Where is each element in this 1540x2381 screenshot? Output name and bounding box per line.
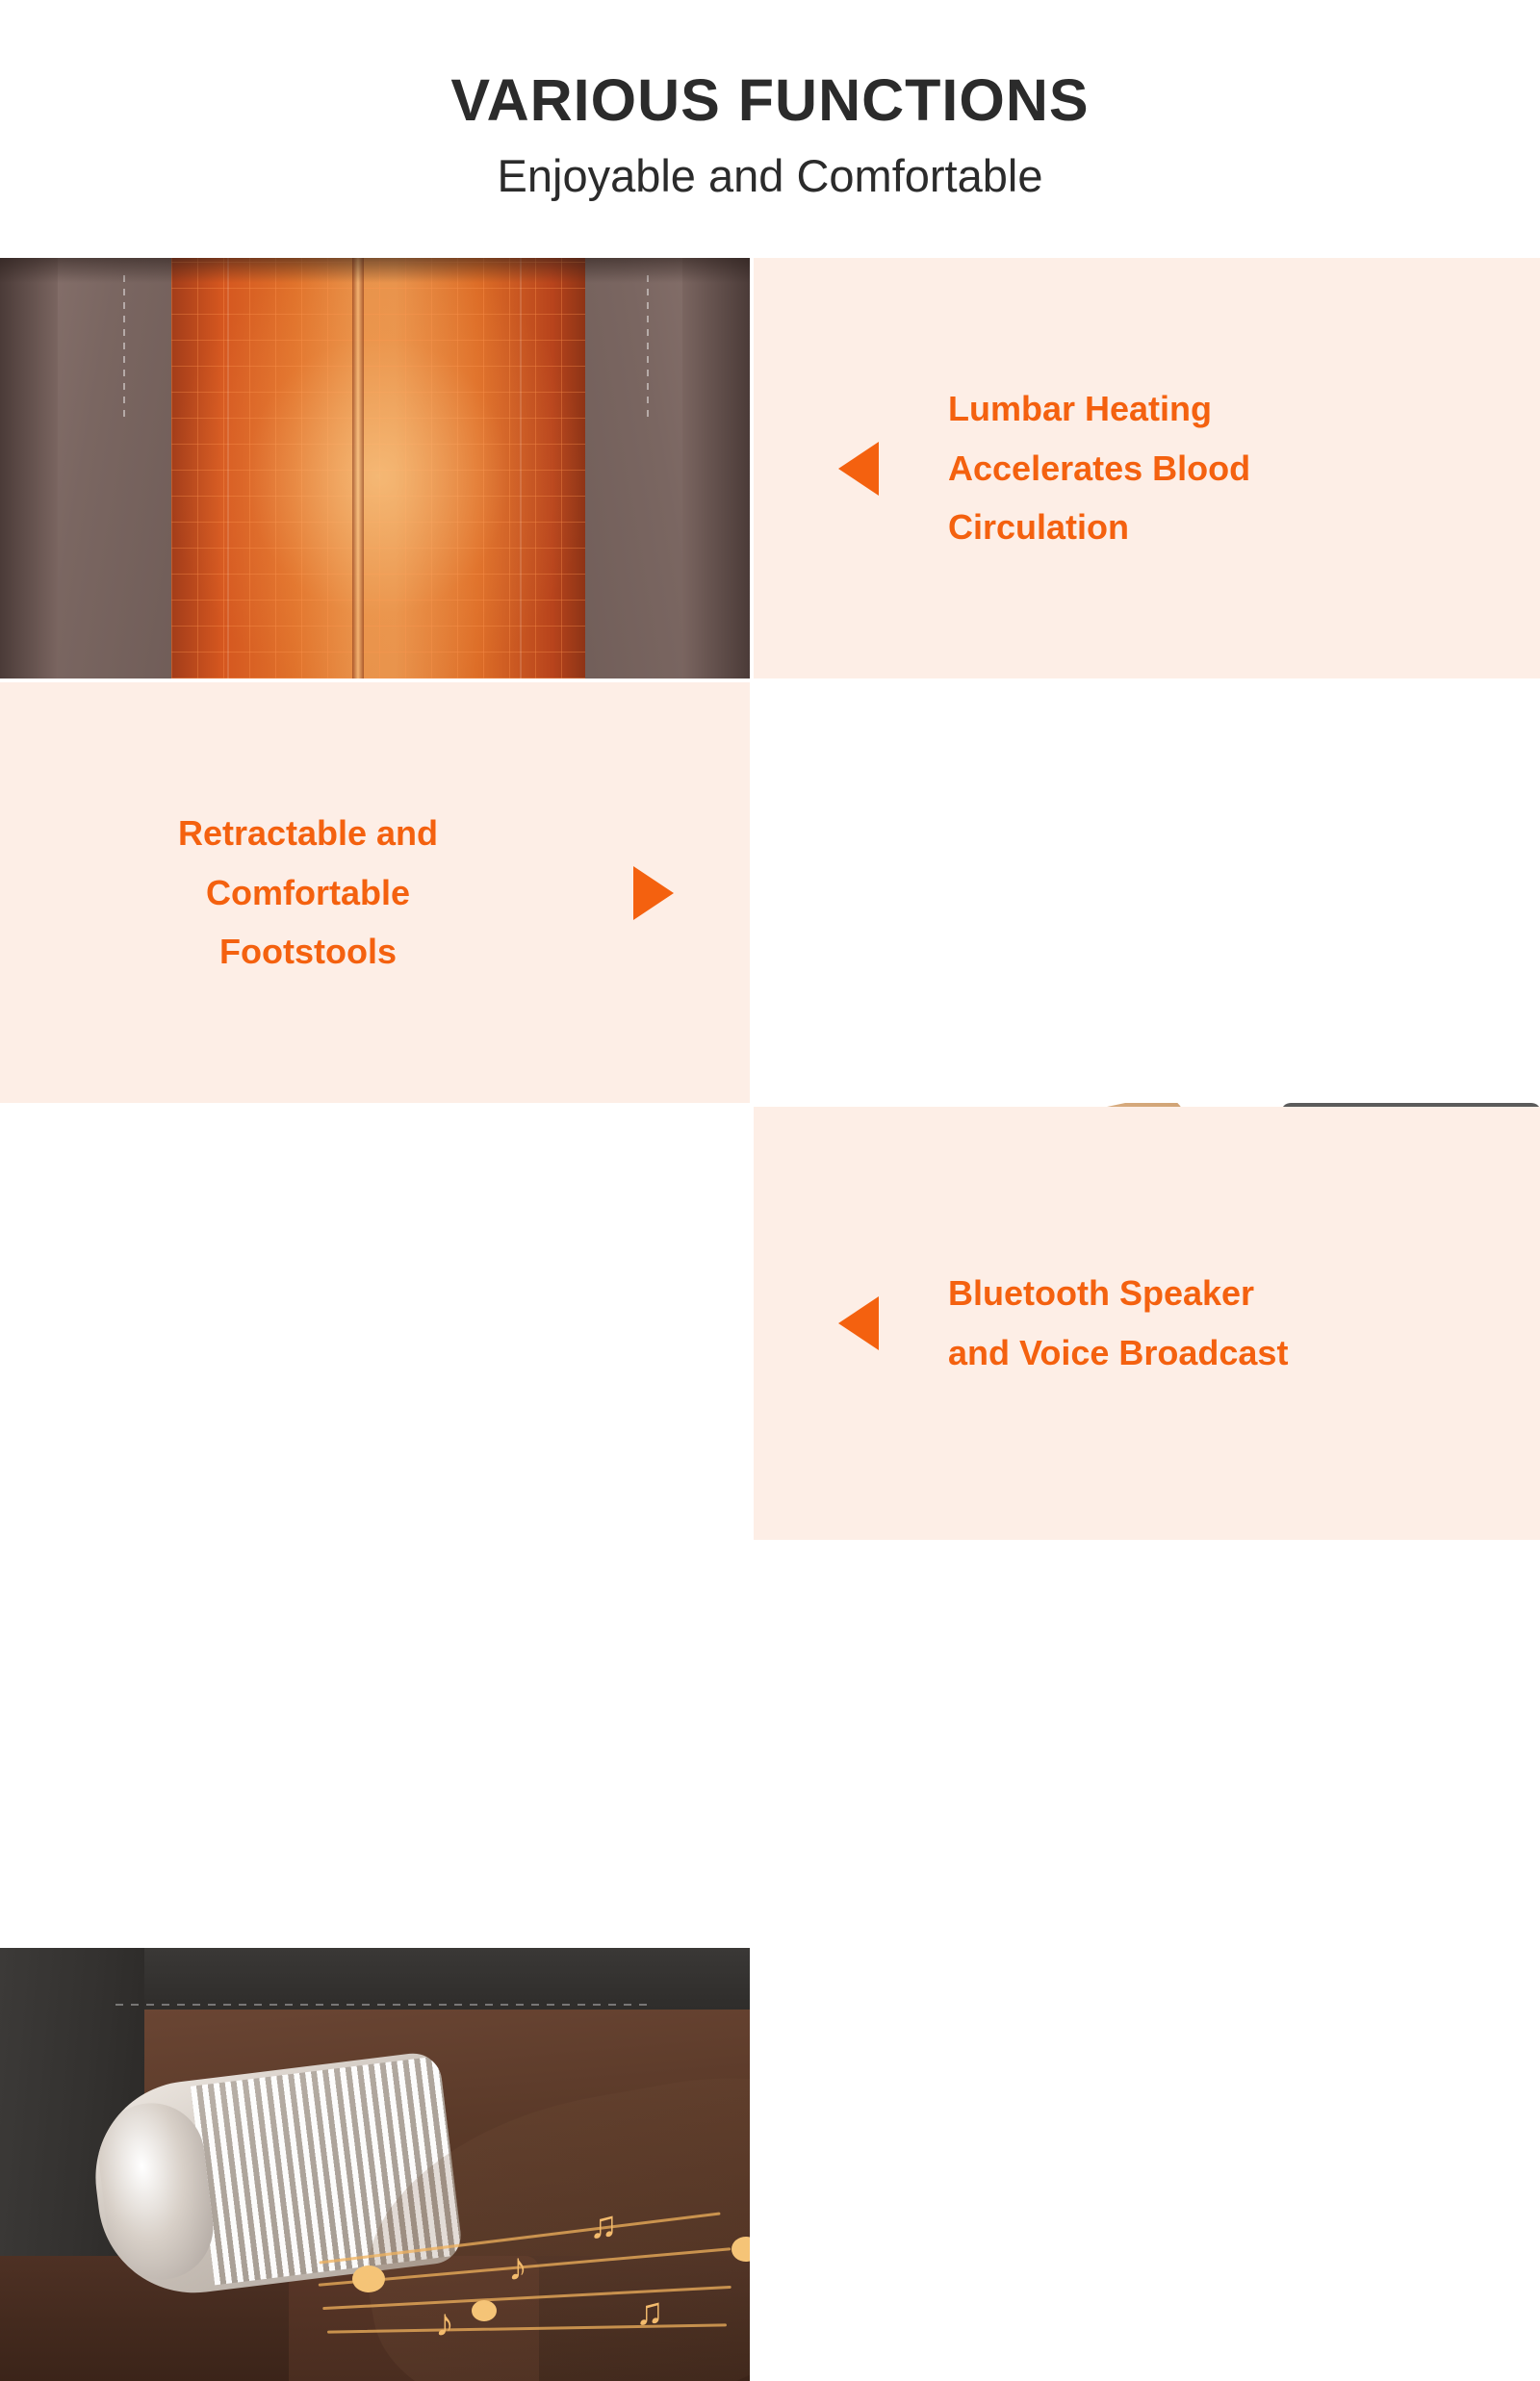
page-title: VARIOUS FUNCTIONS [450, 69, 1089, 131]
seam-line [520, 258, 522, 678]
music-note-icon: ♪ [435, 2304, 454, 2343]
bluetooth-speaker-caption: Bluetooth Speaker and Voice Broadcast [948, 1264, 1288, 1383]
triangle-left-icon [838, 442, 879, 496]
feature-grid: Lumbar Heating Accelerates Blood Circula… [0, 258, 1540, 1540]
music-note-icon: ♫ [589, 2206, 618, 2244]
caption-line: Circulation [948, 498, 1250, 557]
stitch-line [647, 275, 649, 420]
caption-line: Retractable and [0, 804, 616, 863]
stitch-line [115, 2004, 654, 2006]
seam-line [227, 258, 229, 678]
top-shadow [0, 258, 750, 283]
bluetooth-speaker-caption-panel: Bluetooth Speaker and Voice Broadcast [754, 1107, 1540, 1540]
seat-right-edge [682, 258, 750, 678]
center-seam [352, 258, 364, 678]
caption-line: Lumbar Heating [948, 379, 1250, 439]
music-note-dot [352, 2266, 385, 2292]
caption-line: Footstools [0, 922, 616, 982]
footstools-caption: Retractable and Comfortable Footstools [0, 804, 616, 983]
marketing-infographic: VARIOUS FUNCTIONS Enjoyable and Comforta… [0, 0, 1540, 1540]
footstools-caption-panel: Retractable and Comfortable Footstools [0, 682, 750, 1103]
lumbar-heating-caption: Lumbar Heating Accelerates Blood Circula… [948, 379, 1250, 558]
page-subtitle: Enjoyable and Comfortable [498, 152, 1043, 199]
triangle-right-icon [633, 866, 674, 920]
triangle-left-icon [838, 1296, 879, 1350]
music-note-icon: ♫ [635, 2292, 664, 2331]
lumbar-heating-image [0, 258, 750, 678]
caption-line: Bluetooth Speaker [948, 1264, 1288, 1323]
heating-glow [171, 258, 585, 678]
stitch-line [123, 275, 125, 420]
caption-line: and Voice Broadcast [948, 1323, 1288, 1383]
caption-line: Accelerates Blood [948, 439, 1250, 499]
music-note-icon: ♪ [508, 2248, 527, 2287]
music-note-dot [472, 2300, 497, 2321]
lumbar-heating-caption-panel: Lumbar Heating Accelerates Blood Circula… [754, 258, 1540, 678]
seat-left-edge [0, 258, 58, 678]
caption-line: Comfortable [0, 863, 616, 923]
header: VARIOUS FUNCTIONS Enjoyable and Comforta… [0, 0, 1540, 258]
bluetooth-speaker-image: ♫ ♪ ♪ ♫ [0, 1948, 750, 2381]
